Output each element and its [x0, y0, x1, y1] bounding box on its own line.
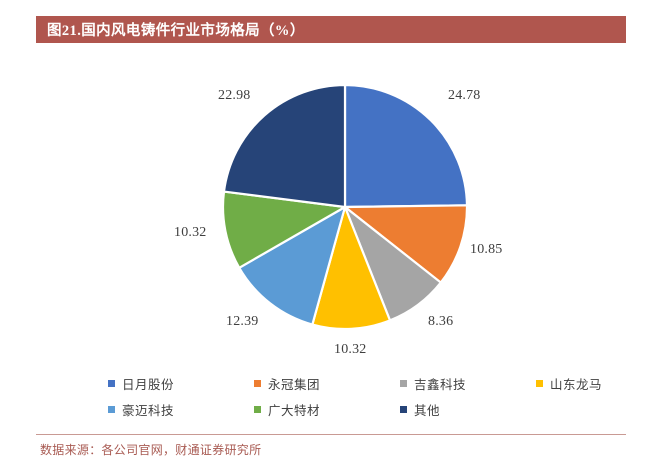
legend-item-label: 其他 — [414, 400, 440, 419]
legend-item-label: 豪迈科技 — [122, 400, 174, 419]
pie-slice-value-label: 8.36 — [428, 314, 453, 330]
legend-item-永冠集团[interactable]: 永冠集团 — [254, 374, 320, 393]
pie-chart-plot-area: 24.7810.858.3610.3212.3910.3222.98 — [36, 50, 626, 375]
pie-slice-value-label: 24.78 — [448, 88, 481, 104]
pie-slice-value-label: 10.32 — [174, 225, 207, 241]
pie-slice-value-label: 12.39 — [226, 314, 259, 330]
legend-swatch-icon — [400, 380, 407, 387]
legend-swatch-icon — [536, 380, 543, 387]
legend-item-吉鑫科技[interactable]: 吉鑫科技 — [400, 374, 466, 393]
legend-swatch-icon — [400, 406, 407, 413]
pie-chart-svg — [36, 50, 626, 375]
chart-legend: 日月股份永冠集团吉鑫科技山东龙马豪迈科技广大特材其他 — [36, 372, 626, 424]
legend-swatch-icon — [108, 380, 115, 387]
figure-title-bar: 图21.国内风电铸件行业市场格局（%） — [36, 16, 626, 43]
legend-swatch-icon — [254, 406, 261, 413]
legend-item-日月股份[interactable]: 日月股份 — [108, 374, 174, 393]
legend-item-山东龙马[interactable]: 山东龙马 — [536, 374, 602, 393]
legend-item-label: 山东龙马 — [550, 374, 602, 393]
pie-slice-value-label: 10.85 — [470, 242, 503, 258]
pie-slice-value-label: 22.98 — [218, 88, 251, 104]
legend-item-label: 广大特材 — [268, 400, 320, 419]
legend-item-label: 永冠集团 — [268, 374, 320, 393]
legend-swatch-icon — [108, 406, 115, 413]
legend-item-其他[interactable]: 其他 — [400, 400, 440, 419]
legend-item-豪迈科技[interactable]: 豪迈科技 — [108, 400, 174, 419]
source-note: 数据来源：各公司官网，财通证券研究所 — [40, 441, 261, 458]
footer-divider — [36, 434, 626, 435]
legend-item-label: 日月股份 — [122, 374, 174, 393]
legend-item-label: 吉鑫科技 — [414, 374, 466, 393]
figure-container: 图21.国内风电铸件行业市场格局（%） 24.7810.858.3610.321… — [0, 0, 662, 469]
pie-slice-value-label: 10.32 — [334, 342, 367, 358]
figure-title: 图21.国内风电铸件行业市场格局（%） — [36, 19, 305, 40]
legend-item-广大特材[interactable]: 广大特材 — [254, 400, 320, 419]
legend-swatch-icon — [254, 380, 261, 387]
